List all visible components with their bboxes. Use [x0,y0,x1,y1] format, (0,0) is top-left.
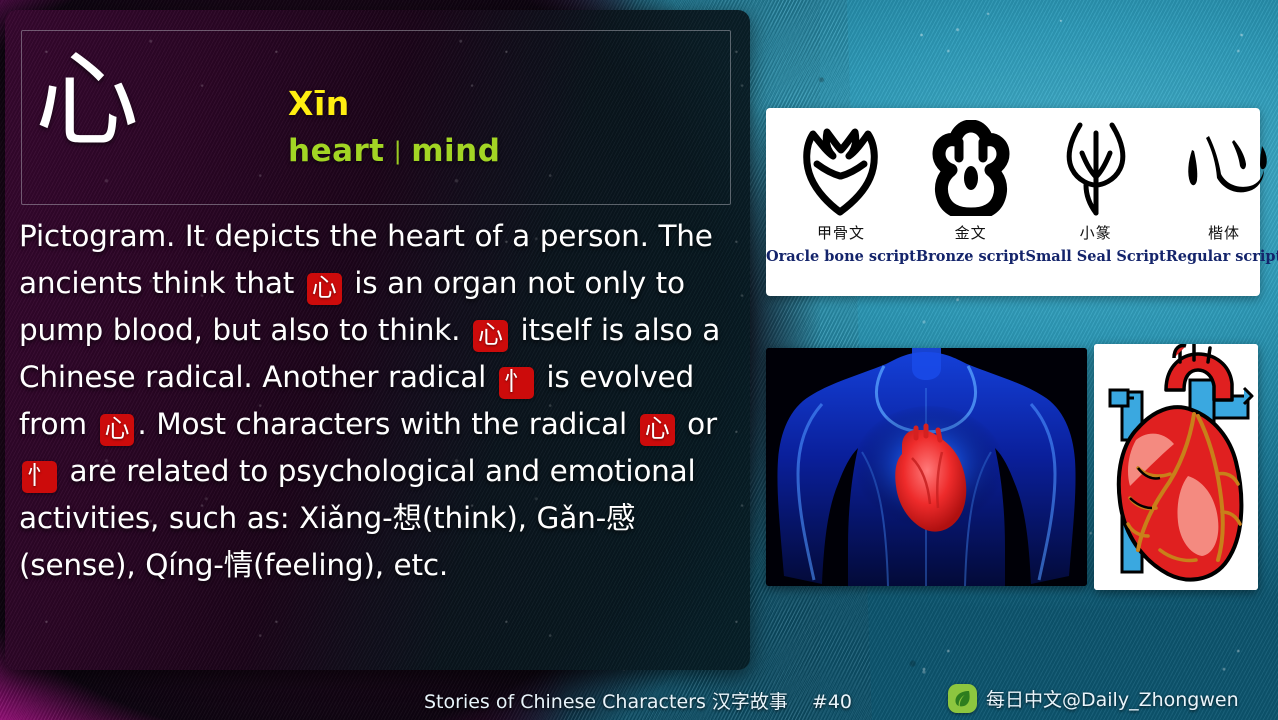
left-content-panel: 心 Xīn heart | mind Pictogram. It depicts… [5,10,750,670]
character-badge: 心 [640,414,675,446]
body-paragraph: Pictogram. It depicts the heart of a per… [19,213,737,589]
regular-heart-glyph [1176,116,1272,220]
small-seal-heart-glyph [1056,116,1136,220]
script-evolution-panel: 甲骨文 Oracle bone script 金文 Bronze script [766,108,1260,296]
meaning-primary: heart [288,133,385,169]
slide-root: 心 Xīn heart | mind Pictogram. It depicts… [0,0,1278,720]
anatomical-heart-diagram-image [1094,344,1258,590]
script-en-label: Bronze script [916,248,1026,265]
footer-series-label: Stories of Chinese Characters 汉字故事 [424,691,788,713]
script-en-label: Small Seal Script [1025,248,1165,265]
human-torso-xray-heart-image [766,348,1087,586]
character-badge: 心 [100,414,135,446]
meaning-separator: | [394,137,403,165]
main-character-glyph: 心 [35,48,139,152]
script-cell-oracle-bone: 甲骨文 Oracle bone script [766,108,916,296]
character-badge: 心 [307,273,342,305]
meaning-label: heart | mind [288,133,500,169]
script-cell-regular: 楷体 Regular script [1166,108,1278,296]
script-en-label: Oracle bone script [766,248,916,265]
footer-brand-text: 每日中文@Daily_Zhongwen [986,685,1239,712]
character-badge: 心 [473,320,508,352]
oracle-bone-heart-glyph [797,116,885,220]
leaf-logo [948,684,977,713]
script-en-label: Regular script [1166,248,1278,265]
script-cn-label: 楷体 [1208,222,1240,243]
script-cell-small-seal: 小篆 Small Seal Script [1025,108,1165,296]
pinyin-label: Xīn [288,84,350,123]
script-cn-label: 金文 [955,222,987,243]
footer-issue-number: #40 [812,691,852,713]
script-cn-label: 小篆 [1080,222,1112,243]
footer-brand[interactable]: 每日中文@Daily_Zhongwen [948,684,1239,713]
bronze-heart-glyph [929,116,1013,220]
meaning-secondary: mind [411,133,500,169]
character-badge: 忄 [499,367,534,399]
script-cell-bronze: 金文 Bronze script [916,108,1026,296]
script-cn-label: 甲骨文 [817,222,865,243]
character-badge: 忄 [22,461,57,493]
footer-series-title: Stories of Chinese Characters 汉字故事#40 [424,687,852,714]
